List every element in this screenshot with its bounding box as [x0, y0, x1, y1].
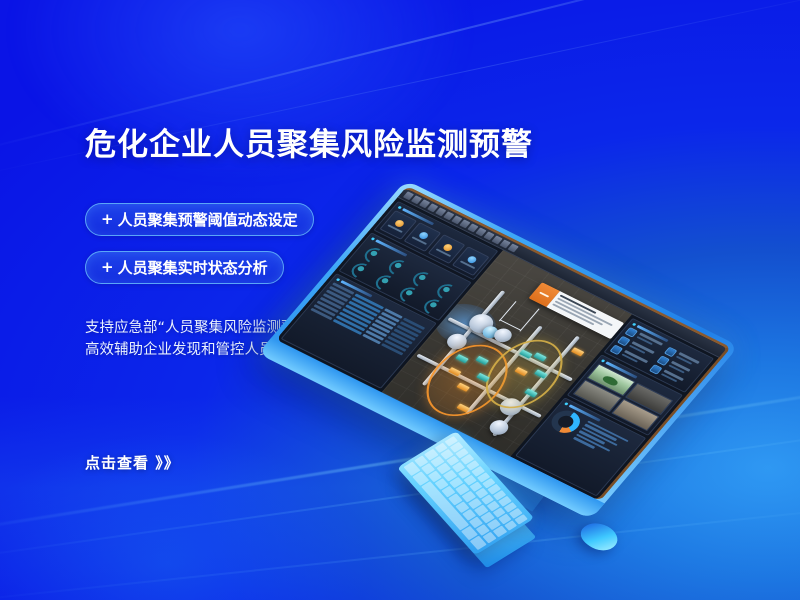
legend-list: [573, 420, 636, 462]
poster-stage: 危化企业人员聚集风险监测预警 + 人员聚集预警阈值动态设定 + 人员聚集实时状态…: [0, 0, 800, 600]
plus-icon: +: [101, 210, 114, 228]
leader-line: [498, 301, 516, 321]
cta-link[interactable]: 点击查看 》》: [85, 452, 180, 473]
help-icon[interactable]: [508, 244, 519, 253]
plus-icon: +: [101, 258, 114, 276]
feature-pill-realtime[interactable]: + 人员聚集实时状态分析: [85, 251, 284, 284]
personnel-tag[interactable]: [571, 347, 585, 356]
mouse[interactable]: [574, 518, 624, 555]
feature-pill-threshold[interactable]: + 人员聚集预警阈值动态设定: [85, 203, 314, 236]
feature-pill-realtime-label: 人员聚集实时状态分析: [118, 257, 268, 278]
feature-pill-threshold-label: 人员聚集预警阈值动态设定: [118, 209, 298, 230]
desktop-monitor: [398, 150, 800, 590]
